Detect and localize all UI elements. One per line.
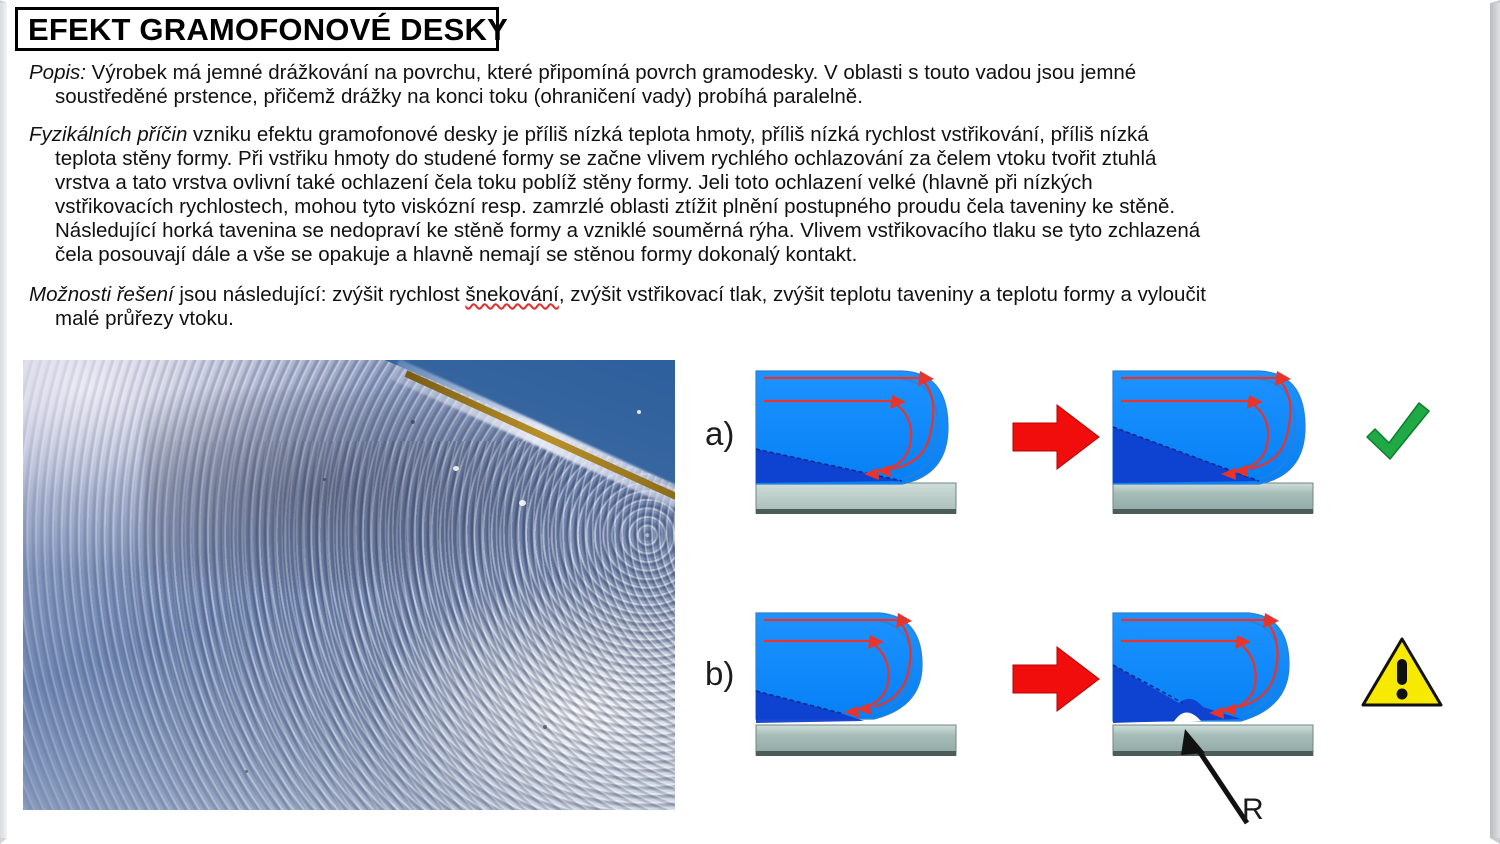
paragraph-popis-body: Výrobek má jemné drážkování na povrchu, … — [55, 61, 1136, 108]
photo-speck — [245, 770, 248, 773]
defect-photograph — [23, 360, 675, 810]
photo-speck — [411, 420, 415, 424]
paragraph-moznosti-reseni: Možnosti řešení jsou následující: zvýšit… — [29, 283, 1214, 331]
diagram-panel-b-before — [752, 607, 984, 767]
slide-page: EFEKT GRAMOFONOVÉ DESKY Popis: Výrobek m… — [0, 0, 1500, 844]
page-title-box: EFEKT GRAMOFONOVÉ DESKY — [15, 7, 499, 51]
diagram-row-label-a: a) — [705, 415, 734, 453]
paragraph-moznosti-lead: Možnosti řešení — [29, 283, 174, 306]
paragraph-popis-lead: Popis: — [29, 61, 86, 84]
green-check-icon — [1357, 393, 1437, 473]
paragraph-fyzikalni-lead: Fyzikálních příčin — [29, 123, 187, 146]
yellow-warning-icon — [1359, 633, 1445, 713]
process-diagram: a) — [697, 355, 1477, 825]
paragraph-popis: Popis: Výrobek má jemné drážkování na po… — [29, 61, 1214, 109]
page-title: EFEKT GRAMOFONOVÉ DESKY — [18, 14, 508, 45]
photo-speck — [323, 478, 326, 481]
red-right-arrow-b — [1009, 639, 1105, 719]
photo-glint — [519, 500, 526, 506]
diagram-row-label-b: b) — [705, 655, 734, 693]
spellcheck-word: šnekování — [465, 283, 558, 306]
diagram-panel-a-after — [1109, 365, 1341, 525]
red-right-arrow-a — [1009, 397, 1105, 477]
photo-speck — [543, 725, 547, 729]
photo-glint — [453, 466, 459, 471]
verdict-ok-a — [1357, 393, 1437, 478]
photo-glint — [637, 410, 641, 414]
paragraph-fyzikalni-priciny: Fyzikálních příčin vzniku efektu gramofo… — [29, 123, 1214, 267]
verdict-warning-b — [1359, 633, 1445, 718]
paragraph-moznosti-body-before: jsou následující: zvýšit rychlost — [174, 283, 466, 306]
diagram-panel-a-before — [752, 365, 984, 525]
groove-callout-label: R — [1242, 793, 1264, 827]
paragraph-fyzikalni-body: vzniku efektu gramofonové desky je příli… — [55, 123, 1200, 266]
